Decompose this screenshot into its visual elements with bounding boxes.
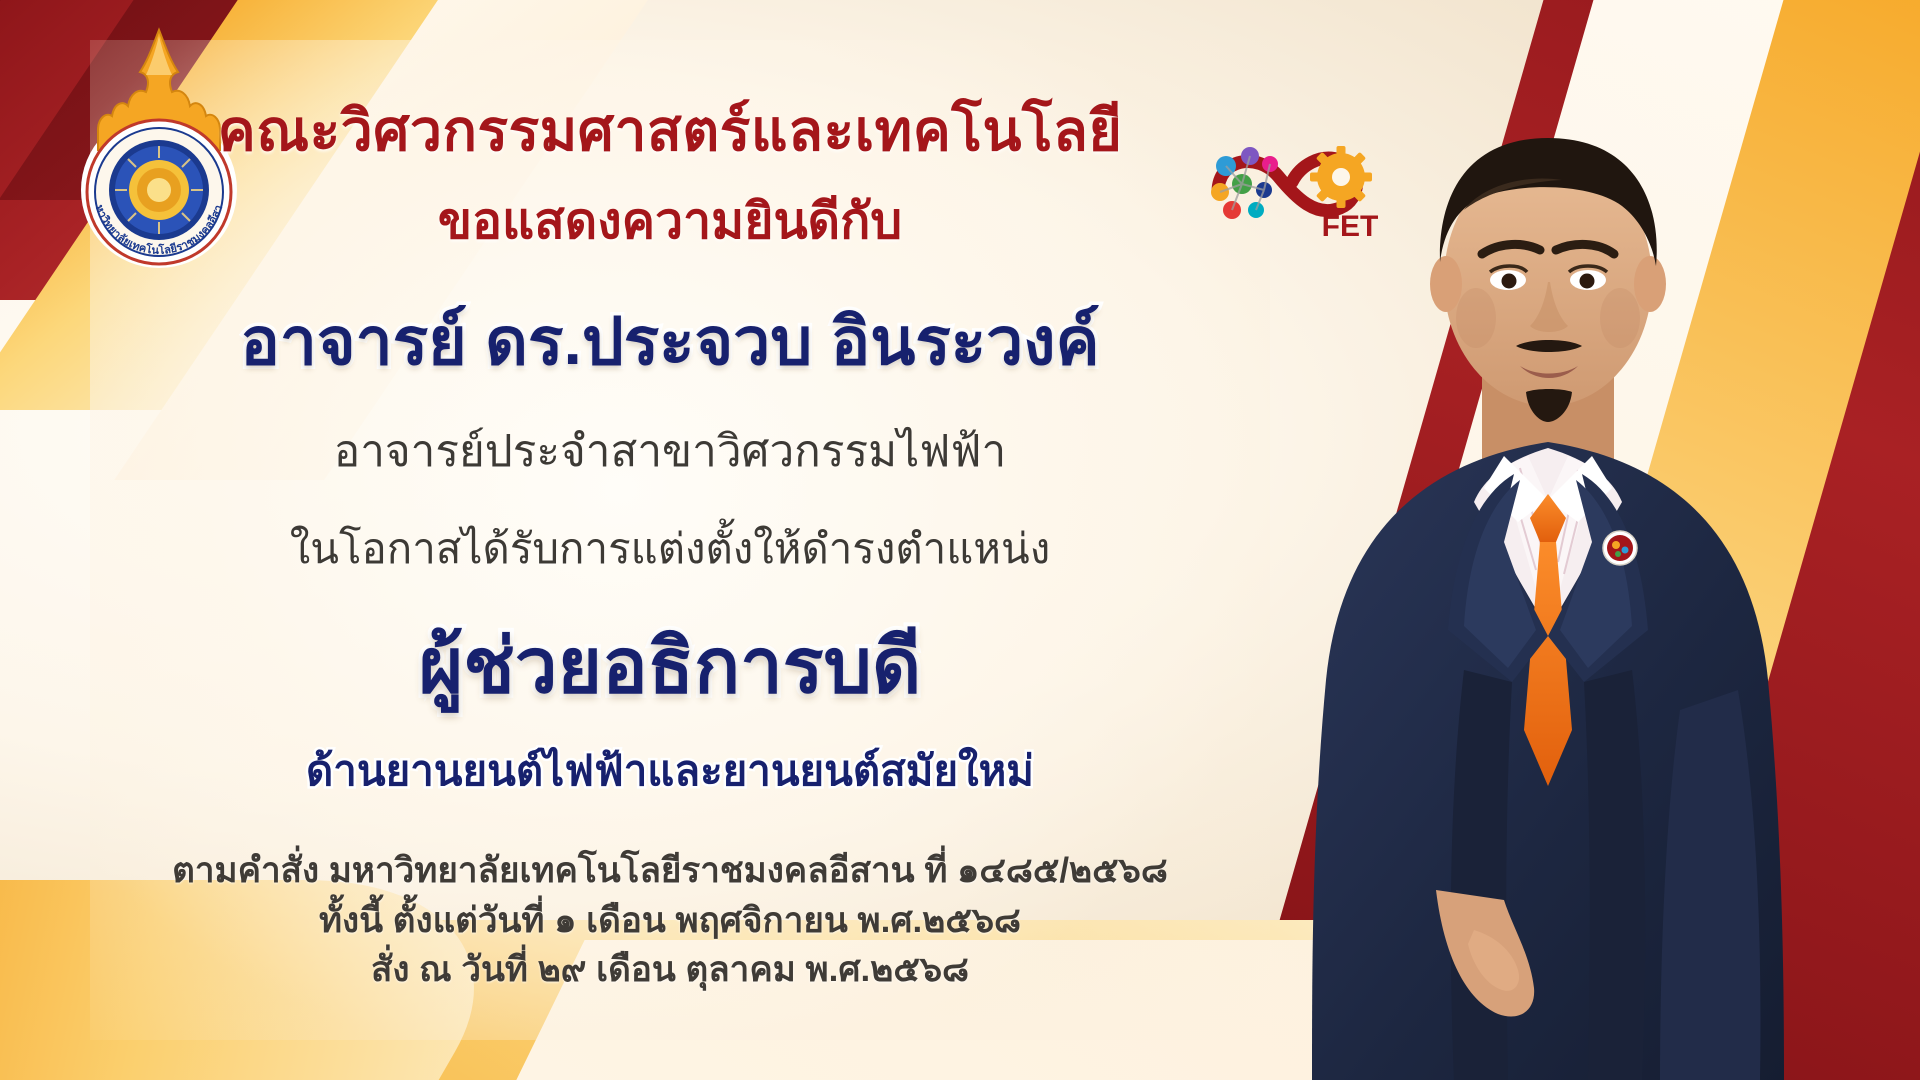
position-subtitle: ด้านยานยนต์ไฟฟ้าและยานยนต์สมัยใหม่: [110, 738, 1230, 804]
congratulation-text: ขอแสดงความยินดีกับ: [110, 182, 1230, 261]
position-title: ผู้ช่วยอธิการบดี: [110, 606, 1230, 726]
order-details: ตามคำสั่ง มหาวิทยาลัยเทคโนโลยีราชมงคลอีส…: [110, 846, 1230, 995]
honoree-photo: [1268, 70, 1828, 1080]
faculty-name: คณะวิศวกรรมศาสตร์และเทคโนโลยี: [110, 86, 1230, 176]
congratulation-banner: มหาวิทยาลัยเทคโนโลยีราชมงคลอีสาน: [0, 0, 1920, 1080]
order-line-reference: ตามคำสั่ง มหาวิทยาลัยเทคโนโลยีราชมงคลอีส…: [110, 846, 1230, 896]
occasion-text: ในโอกาสได้รับการแต่งตั้งให้ดำรงตำแหน่ง: [110, 516, 1230, 582]
honoree-name: อาจารย์ ดร.ประจวบ อินระวงค์: [110, 289, 1230, 394]
honoree-department: อาจารย์ประจำสาขาวิศวกรรมไฟฟ้า: [110, 416, 1230, 486]
banner-text-block: คณะวิศวกรรมศาสตร์และเทคโนโลยี ขอแสดงความ…: [110, 86, 1230, 995]
order-line-effective: ทั้งนี้ ตั้งแต่วันที่ ๑ เดือน พฤศจิกายน …: [110, 896, 1230, 946]
order-line-issued: สั่ง ณ วันที่ ๒๙ เดือน ตุลาคม พ.ศ.๒๕๖๘: [110, 945, 1230, 995]
